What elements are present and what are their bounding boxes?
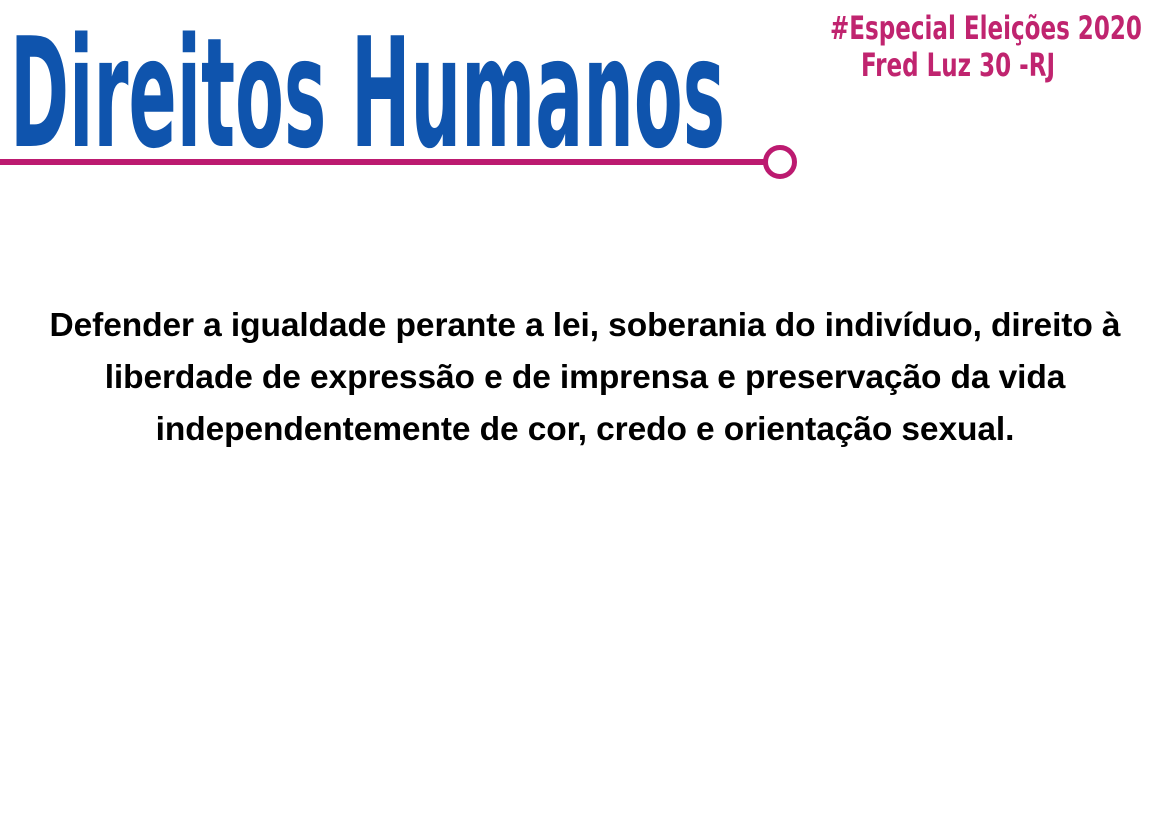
slide-canvas: Direitos Humanos #Especial Eleições 2020… [0,0,1170,827]
tagline-line-hashtag: #Especial Eleições 2020 [830,10,1086,47]
tagline-line-candidate: Fred Luz 30 -RJ [830,47,1086,84]
circle-ring-icon [763,145,797,179]
slide-header: Direitos Humanos #Especial Eleições 2020… [0,0,1170,190]
body-copy-text: Defender a igualdade perante a lei, sobe… [0,300,1170,456]
page-title-container: Direitos Humanos [10,18,810,158]
tagline-block: #Especial Eleições 2020 Fred Luz 30 -RJ [798,10,1118,84]
body-copy-block: Defender a igualdade perante a lei, sobe… [0,300,1170,456]
header-divider-rule [0,159,768,165]
page-title: Direitos Humanos [10,18,426,170]
